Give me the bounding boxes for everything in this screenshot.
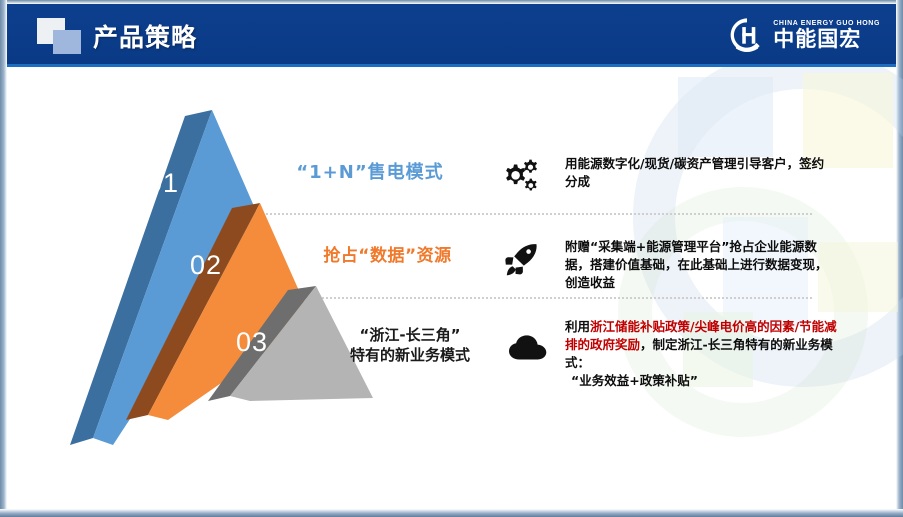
- slide-frame-left: [0, 0, 7, 517]
- row-3-desc-prefix: 利用: [565, 319, 590, 334]
- gears-icon: [497, 157, 539, 200]
- logo-square-blue: [53, 30, 81, 54]
- company-emblem-icon: [728, 16, 766, 54]
- company-name-cn: 中能国宏: [773, 28, 880, 51]
- pyramid-diagram: [60, 108, 390, 453]
- slide-canvas: 产品策略 CHINA ENERGY GUO HONG 中能国宏: [0, 0, 903, 517]
- company-logo: CHINA ENERGY GUO HONG 中能国宏: [728, 16, 880, 54]
- slide-frame-right: [896, 0, 903, 517]
- watermark-block-1: [678, 77, 773, 157]
- slide-frame-bottom: [0, 509, 903, 517]
- page-title: 产品策略: [93, 18, 197, 54]
- pyramid-number-03: 03: [236, 327, 268, 358]
- row-1-title: “1+N”售电模式: [255, 163, 485, 183]
- cloud-icon: [508, 334, 548, 367]
- row-3-title-line1: “浙江-长三角”: [360, 326, 461, 344]
- row-2-title: 抢占“数据”资源: [290, 246, 485, 266]
- row-1-description: 用能源数字化/现货/碳资产管理引导客户，签约分成: [565, 155, 835, 191]
- watermark-block-2: [803, 73, 893, 168]
- rocket-icon: [503, 243, 539, 282]
- watermark-ring-inner: [618, 187, 868, 437]
- row-3-title-line2: 特有的新业务模式: [350, 346, 470, 364]
- row-3-desc-last: “业务效益+政策补贴”: [565, 373, 698, 388]
- pyramid-number-01: 01: [147, 168, 179, 199]
- row-2-description: 附赠“采集端+能源管理平台”抢占企业能源数据，搭建价值基础，在此基础上进行数据变…: [565, 238, 833, 292]
- slide-header: 产品策略 CHINA ENERGY GUO HONG 中能国宏: [7, 4, 896, 64]
- two-squares-logo-icon: [37, 18, 83, 54]
- row-3-title: “浙江-长三角” 特有的新业务模式: [330, 325, 490, 365]
- row-3-description: 利用浙江储能补贴政策/尖峰电价高的因素/节能减排的政府奖励，制定浙江-长三角特有…: [565, 318, 837, 390]
- pyramid-number-02: 02: [190, 250, 222, 281]
- header-accent-line: [7, 64, 896, 67]
